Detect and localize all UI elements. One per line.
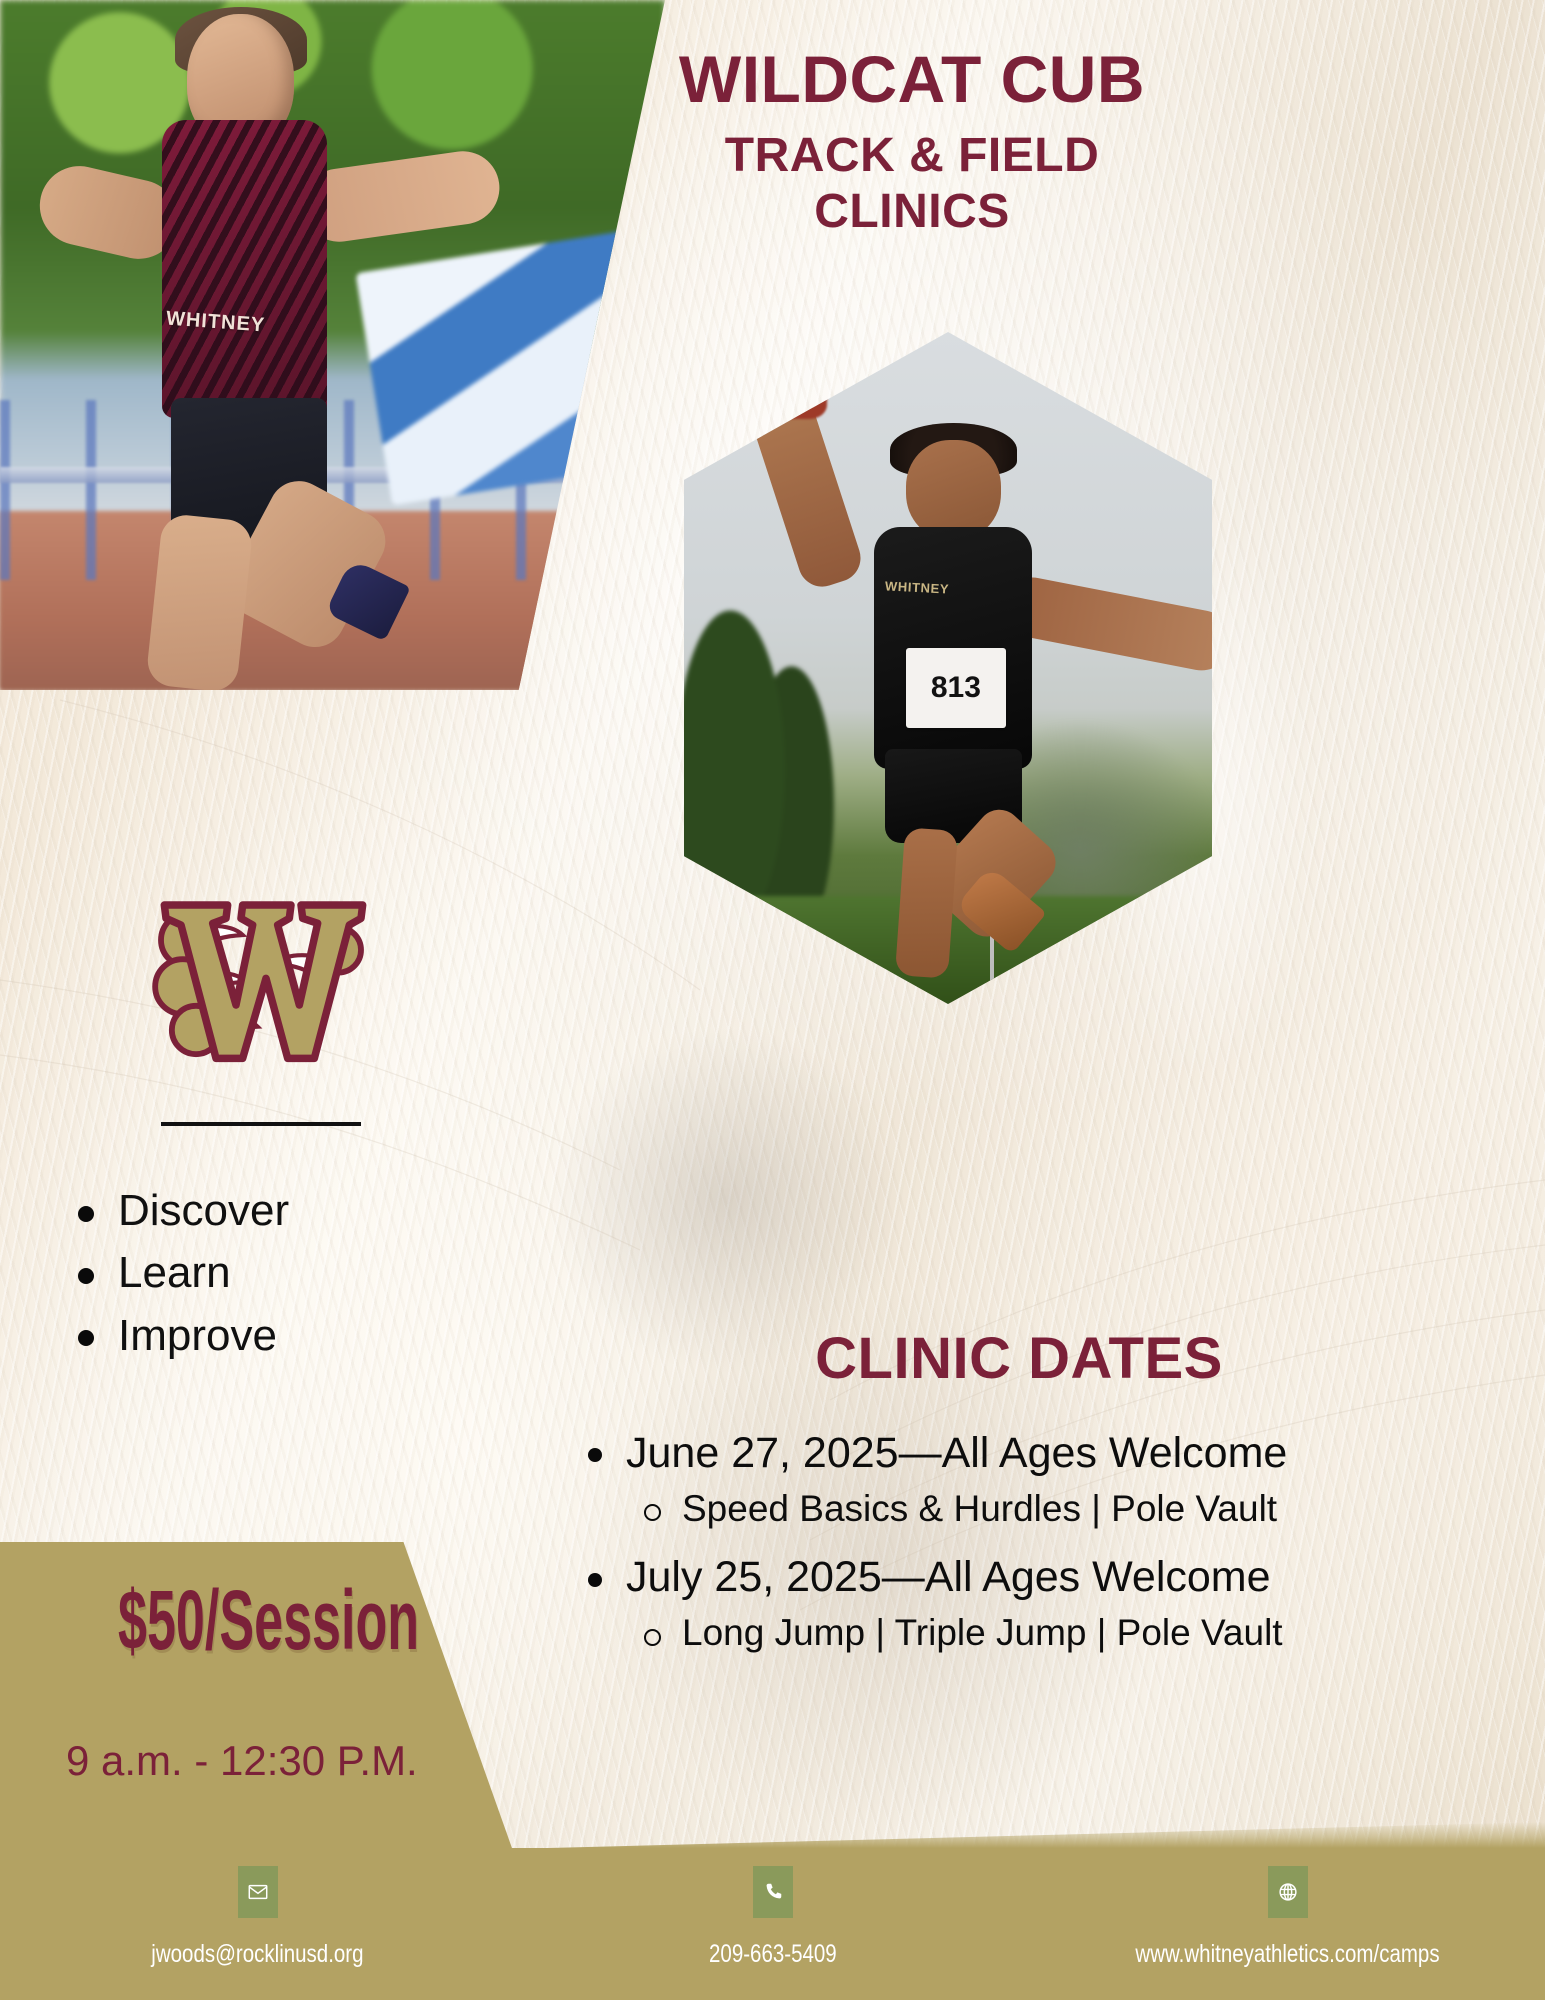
envelope-icon: [238, 1866, 278, 1918]
contact-email[interactable]: jwoods@rocklinusd.org: [48, 1866, 468, 1967]
clinic-events: Speed Basics & Hurdles | Pole Vault: [566, 1485, 1526, 1532]
jumper-jersey-wordmark: WHITNEY: [884, 579, 949, 595]
footer-contact-bar: jwoods@rocklinusd.org 209-663-5409 www.w…: [0, 1848, 1545, 2000]
whitney-w-claw-icon: [136, 880, 386, 1088]
page-subtitle-line1: TRACK & FIELD: [612, 129, 1212, 183]
logo-block: [96, 880, 426, 1126]
clinic-dates-heading: CLINIC DATES: [566, 1330, 1526, 1388]
contact-phone[interactable]: 209-663-5409: [563, 1866, 983, 1967]
value-item: Discover: [60, 1180, 480, 1242]
contact-website-text: www.whitneyathletics.com/camps: [1135, 1942, 1439, 1967]
session-time-label: 9 a.m. - 12:30 P.M.: [66, 1740, 486, 1782]
contact-email-text: jwoods@rocklinusd.org: [151, 1942, 363, 1967]
contact-website[interactable]: www.whitneyathletics.com/camps: [1078, 1866, 1498, 1967]
value-item: Learn: [60, 1242, 480, 1304]
flyer-page: WHITNEY WHITNEY 813 WILDCAT CUB TRACK & …: [0, 0, 1545, 2000]
clinic-dates-block: CLINIC DATES June 27, 2025—All Ages Welc…: [566, 1330, 1526, 1675]
clinic-date-entry: July 25, 2025—All Ages Welcome Long Jump…: [566, 1550, 1526, 1656]
price-label: $50/Session: [118, 1578, 329, 1662]
page-subtitle-line2: CLINICS: [612, 185, 1212, 239]
values-list: Discover Learn Improve: [60, 1180, 480, 1367]
clinic-date: July 25, 2025—All Ages Welcome: [566, 1550, 1526, 1605]
value-item: Improve: [60, 1305, 480, 1367]
clinic-events: Long Jump | Triple Jump | Pole Vault: [566, 1609, 1526, 1656]
headline-group: WILDCAT CUB TRACK & FIELD CLINICS: [612, 46, 1212, 239]
phone-icon: [753, 1866, 793, 1918]
clinic-date: June 27, 2025—All Ages Welcome: [566, 1426, 1526, 1481]
clinic-date-entry: June 27, 2025—All Ages Welcome Speed Bas…: [566, 1426, 1526, 1532]
clinic-dates-list: June 27, 2025—All Ages Welcome Speed Bas…: [566, 1426, 1526, 1657]
divider-rule: [161, 1122, 361, 1126]
jumper-bib-number: 813: [906, 648, 1006, 729]
contact-phone-text: 209-663-5409: [709, 1942, 837, 1967]
globe-icon: [1268, 1866, 1308, 1918]
page-title: WILDCAT CUB: [612, 46, 1212, 113]
